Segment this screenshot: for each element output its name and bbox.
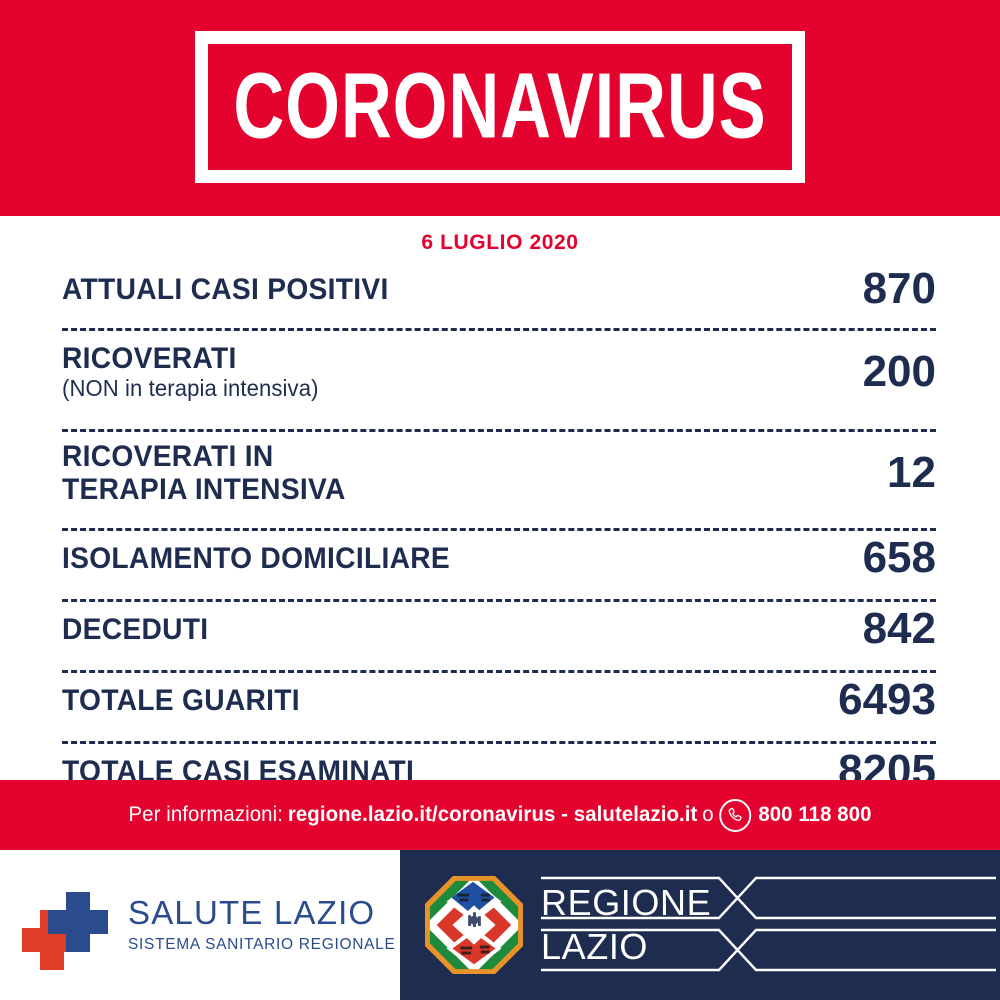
info-links[interactable]: regione.lazio.it/coronavirus - salutelaz… bbox=[288, 803, 698, 827]
spacer bbox=[62, 514, 936, 528]
stat-label-wrap: DECEDUTI bbox=[62, 613, 218, 646]
spacer bbox=[62, 413, 936, 429]
salute-title: SALUTE LAZIO bbox=[128, 895, 396, 931]
footer: SALUTE LAZIO SISTEMA SANITARIO REGIONALE bbox=[0, 850, 1000, 1000]
infographic-page: CORONAVIRUS 6 LUGLIO 2020 ATTUALI CASI P… bbox=[0, 0, 1000, 1000]
stat-value: 842 bbox=[863, 606, 936, 652]
table-row: RICOVERATI IN TERAPIA INTENSIVA 12 bbox=[62, 432, 936, 514]
stat-label: TOTALE GUARITI bbox=[62, 684, 300, 717]
spacer bbox=[62, 314, 936, 328]
salute-subtitle: SISTEMA SANITARIO REGIONALE bbox=[128, 935, 396, 955]
stat-label: ATTUALI CASI POSITIVI bbox=[62, 273, 389, 306]
regione-lazio-wordmark: REGIONE LAZIO bbox=[541, 870, 996, 980]
table-row: RICOVERATI (NON in terapia intensiva) 20… bbox=[62, 331, 936, 413]
stat-label-wrap: RICOVERATI IN TERAPIA INTENSIVA bbox=[62, 440, 364, 506]
health-cross-icon bbox=[22, 882, 108, 968]
table-row: DECEDUTI 842 bbox=[62, 602, 936, 656]
regione-lazio-coat-of-arms-icon bbox=[425, 876, 523, 974]
stat-value: 6493 bbox=[838, 677, 936, 723]
spacer bbox=[62, 727, 936, 741]
regione-lazio-logo-block: REGIONE LAZIO bbox=[400, 850, 1000, 1000]
page-title: CORONAVIRUS bbox=[233, 61, 766, 154]
stats-table: ATTUALI CASI POSITIVI 870 RICOVERATI (NO… bbox=[62, 264, 936, 798]
spacer bbox=[62, 656, 936, 670]
header-banner: CORONAVIRUS bbox=[0, 0, 1000, 216]
stat-label-wrap: RICOVERATI (NON in terapia intensiva) bbox=[62, 342, 329, 402]
header-title-box-inner: CORONAVIRUS bbox=[208, 44, 792, 170]
stat-label: DECEDUTI bbox=[62, 613, 208, 646]
stat-label-wrap: ISOLAMENTO DOMICILIARE bbox=[62, 542, 475, 575]
table-row: ATTUALI CASI POSITIVI 870 bbox=[62, 264, 936, 314]
stat-label-wrap: ATTUALI CASI POSITIVI bbox=[62, 273, 409, 306]
info-conjunction: o bbox=[702, 803, 713, 827]
spacer bbox=[62, 585, 936, 599]
stat-value: 870 bbox=[863, 266, 936, 312]
salute-lazio-text: SALUTE LAZIO SISTEMA SANITARIO REGIONALE bbox=[128, 895, 396, 955]
report-date: 6 LUGLIO 2020 bbox=[0, 231, 1000, 255]
stat-value: 200 bbox=[863, 349, 936, 395]
stat-label: RICOVERATI IN TERAPIA INTENSIVA bbox=[62, 440, 346, 506]
stat-label-wrap: TOTALE GUARITI bbox=[62, 684, 315, 717]
stat-value: 658 bbox=[863, 535, 936, 581]
blue-cross-shape bbox=[48, 892, 108, 952]
info-phone-number: 800 118 800 bbox=[758, 803, 871, 827]
phone-icon bbox=[719, 799, 751, 832]
info-bar-content: Per informazioni: regione.lazio.it/coron… bbox=[128, 799, 871, 832]
stat-sublabel: (NON in terapia intensiva) bbox=[62, 375, 319, 402]
info-bar: Per informazioni: regione.lazio.it/coron… bbox=[0, 780, 1000, 850]
stat-label: ISOLAMENTO DOMICILIARE bbox=[62, 542, 450, 575]
table-row: TOTALE GUARITI 6493 bbox=[62, 673, 936, 727]
stat-label: RICOVERATI bbox=[62, 342, 313, 375]
salute-lazio-logo-block: SALUTE LAZIO SISTEMA SANITARIO REGIONALE bbox=[0, 850, 400, 1000]
table-row: ISOLAMENTO DOMICILIARE 658 bbox=[62, 531, 936, 585]
header-title-box: CORONAVIRUS bbox=[195, 31, 805, 183]
regione-chevron-graphic bbox=[541, 870, 996, 980]
info-prefix: Per informazioni: bbox=[128, 803, 282, 827]
stat-value: 12 bbox=[887, 450, 936, 496]
